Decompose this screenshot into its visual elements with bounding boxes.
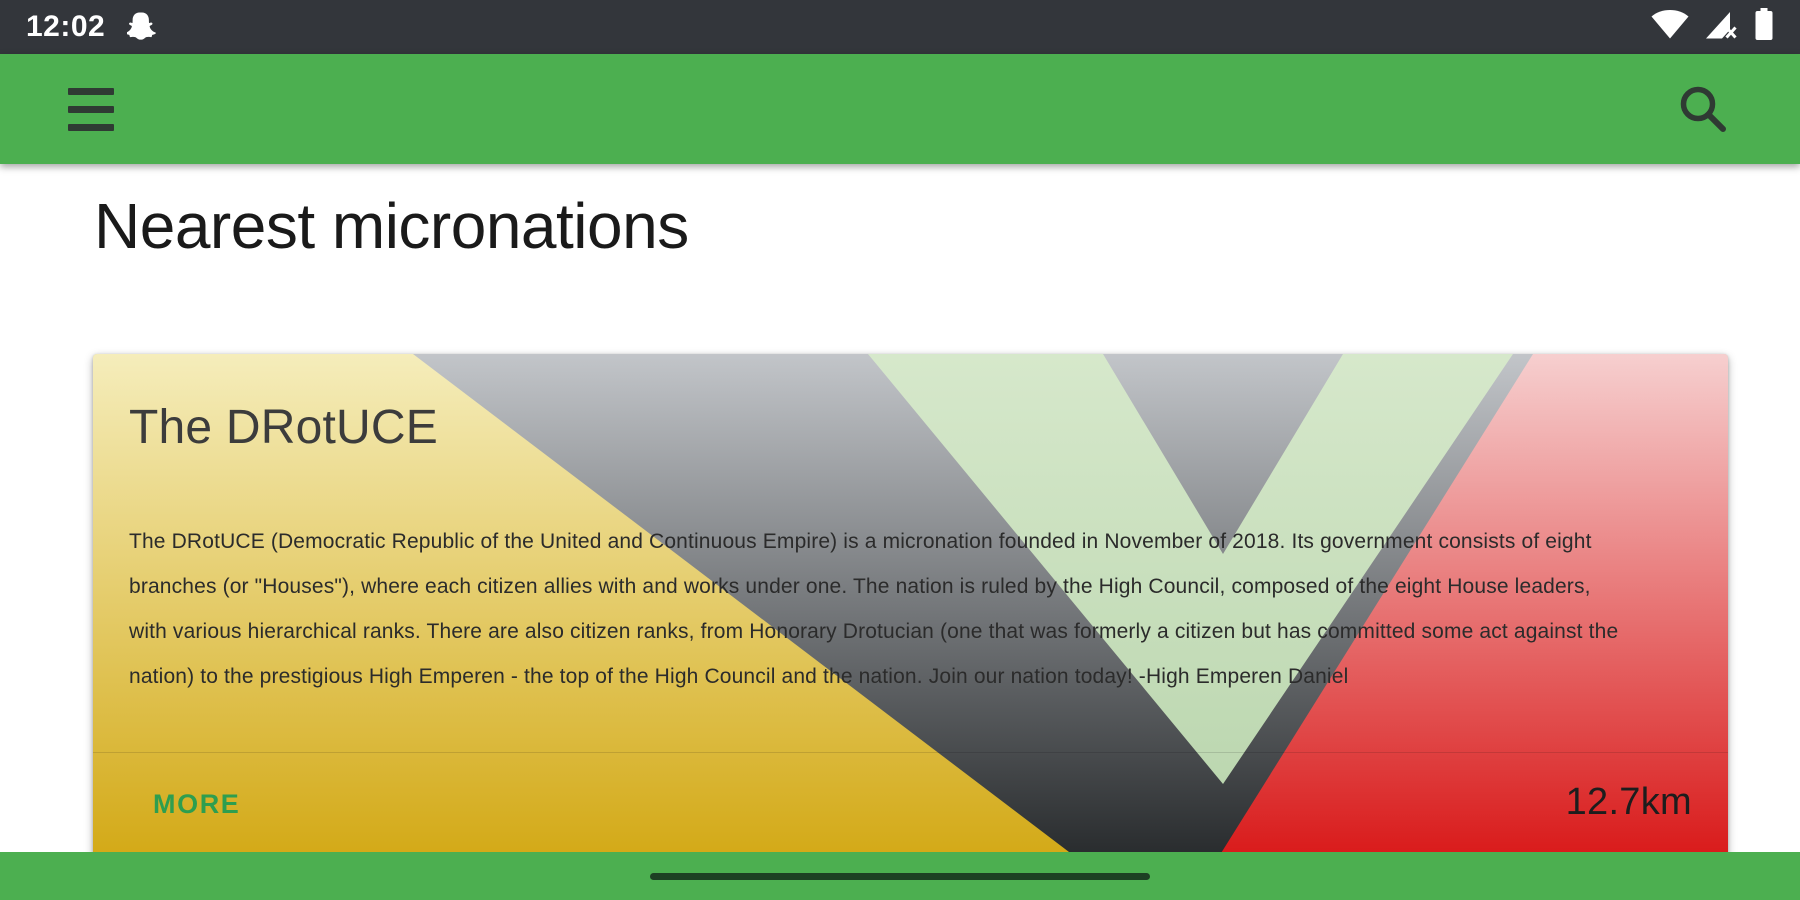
wifi-icon: [1650, 9, 1690, 46]
app-bar: [0, 54, 1800, 164]
card-content: The DRotUCE The DRotUCE (Democratic Repu…: [93, 354, 1728, 852]
hamburger-menu-icon[interactable]: [48, 66, 134, 152]
micronation-card[interactable]: The DRotUCE The DRotUCE (Democratic Repu…: [93, 354, 1728, 852]
page-title: Nearest micronations: [94, 189, 689, 263]
card-actions: MORE 12.7km: [93, 753, 1728, 852]
content-area: Nearest micronations: [0, 164, 1800, 852]
hamburger-line-3: [68, 124, 114, 131]
card-title: The DRotUCE: [129, 400, 438, 455]
hamburger-line-2: [68, 106, 114, 113]
search-icon[interactable]: [1660, 66, 1746, 152]
hamburger-line-1: [68, 88, 114, 95]
status-system-icons: [1650, 8, 1774, 46]
status-bar: 12:02: [0, 0, 1800, 54]
more-button[interactable]: MORE: [153, 789, 240, 820]
cellular-no-sim-icon: [1704, 9, 1740, 46]
card-description: The DRotUCE (Democratic Republic of the …: [129, 519, 1629, 699]
battery-icon: [1754, 8, 1774, 46]
app-screen: 12:02: [0, 0, 1800, 900]
distance-label: 12.7km: [1566, 781, 1692, 824]
status-clock: 12:02: [26, 10, 105, 44]
navigation-bar: [0, 852, 1800, 900]
gesture-handle-icon[interactable]: [650, 873, 1150, 880]
snapchat-ghost-icon: [127, 11, 157, 43]
status-notification-icons: [127, 11, 157, 43]
